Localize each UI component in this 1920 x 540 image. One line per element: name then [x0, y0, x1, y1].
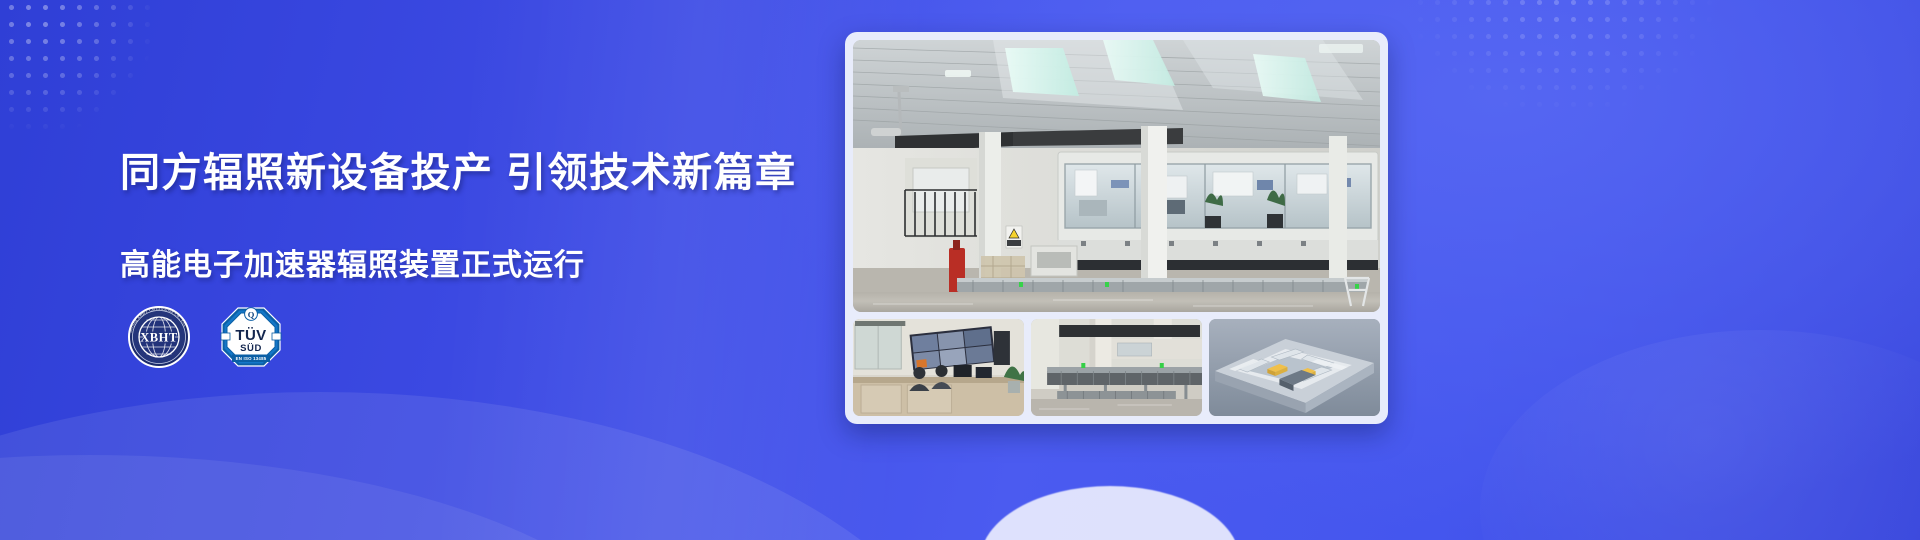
promo-banner: 同方辐照新设备投产 引领技术新篇章 高能电子加速器辐照装置正式运行	[0, 0, 1920, 540]
page-title: 同方辐照新设备投产 引领技术新篇章	[120, 150, 820, 196]
banner-copy: 同方辐照新设备投产 引领技术新篇章 高能电子加速器辐照装置正式运行	[120, 150, 820, 284]
tuv-sud-logo: Q TÜV SÜD EN ISO 13485	[220, 306, 282, 368]
svg-text:Q: Q	[248, 310, 255, 320]
facility-3d-render[interactable]	[1209, 319, 1380, 416]
banner-subtitle: 高能电子加速器辐照装置正式运行	[120, 240, 820, 284]
svg-text:SÜD: SÜD	[240, 343, 262, 354]
photo-gallery-card	[845, 32, 1388, 424]
xbht-certification-logo: XBHT Beijing XBHT Certification Co., Ltd…	[120, 302, 198, 372]
svg-text:XBHT: XBHT	[140, 331, 178, 345]
irradiation-facility-hall-photo	[853, 40, 1380, 312]
control-room-photo[interactable]	[853, 319, 1024, 416]
svg-text:TÜV: TÜV	[235, 327, 266, 344]
conveyor-line-photo[interactable]	[1031, 319, 1202, 416]
dot-pattern-decoration-right	[1395, 0, 1715, 200]
svg-text:EN ISO 13485: EN ISO 13485	[236, 356, 267, 361]
certification-logos: XBHT Beijing XBHT Certification Co., Ltd…	[120, 302, 282, 372]
thumbnail-row	[853, 319, 1380, 416]
